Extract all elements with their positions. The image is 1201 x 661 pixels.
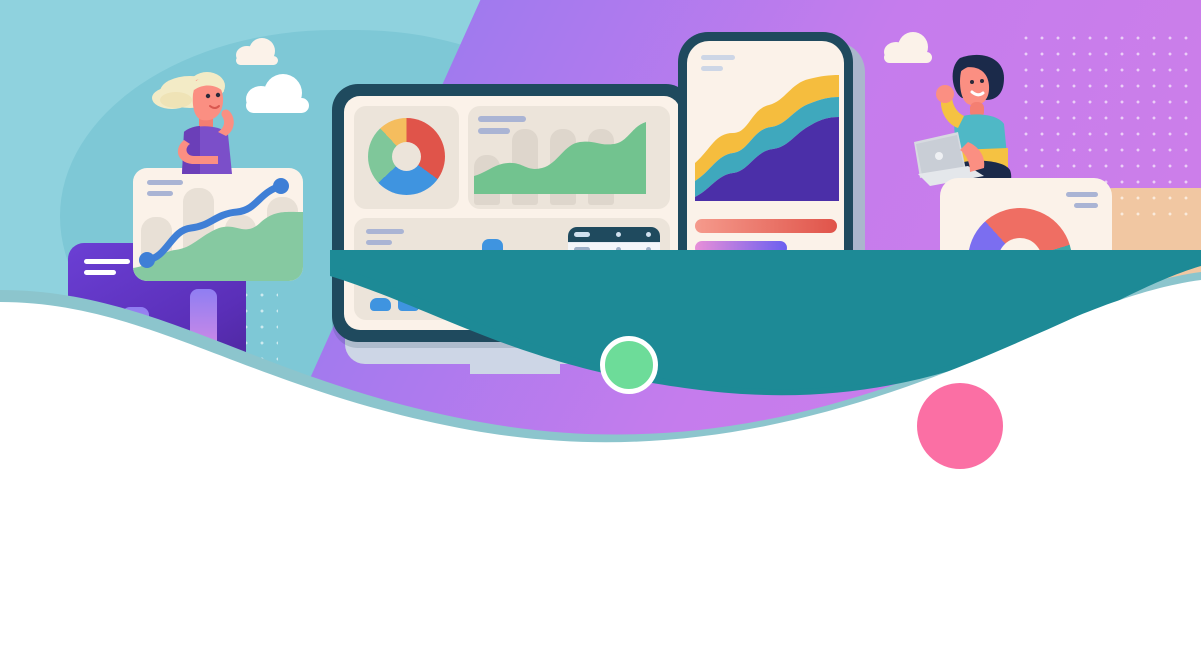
illustration-stage: HOW TO MIGRATE YOUR DATA TO A BETTER ANA… bbox=[0, 0, 1201, 661]
monitor-area-widget bbox=[468, 106, 670, 209]
table-header-row bbox=[568, 227, 660, 242]
right-card-label-lines bbox=[1066, 192, 1098, 214]
hero-illustration bbox=[0, 0, 1201, 480]
tablet-progress-bar-1 bbox=[695, 219, 837, 233]
tablet-stacked-area-chart bbox=[687, 55, 844, 205]
tablet-label-lines bbox=[701, 55, 735, 77]
line-card-label-lines bbox=[147, 180, 183, 202]
area-widget-label-lines bbox=[478, 116, 526, 140]
donut-hole bbox=[392, 142, 421, 171]
green-circle bbox=[600, 336, 658, 394]
table-header-cell-name bbox=[574, 232, 590, 237]
title-bar: HOW TO MIGRATE YOUR DATA TO A BETTER ANA… bbox=[0, 480, 1201, 661]
woman-thinking-character bbox=[152, 62, 272, 182]
table-header-cell-value bbox=[616, 232, 621, 237]
monitor-donut-widget bbox=[354, 106, 459, 209]
pink-circle bbox=[912, 378, 1008, 474]
table-header-cell-delta bbox=[646, 232, 651, 237]
